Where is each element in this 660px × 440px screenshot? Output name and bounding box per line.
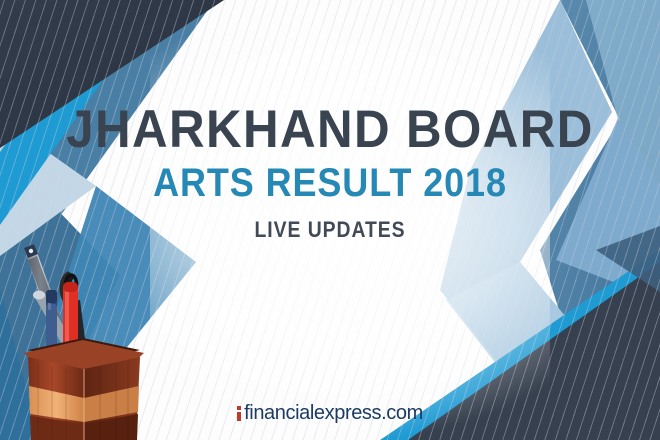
headline-block: JHARKHAND BOARD ARTS RESULT 2018 LIVE UP…	[0, 104, 660, 243]
blue-pen-icon	[46, 290, 57, 352]
page-tagline: LIVE UPDATES	[40, 217, 621, 243]
fe-colon-mark-icon	[237, 406, 241, 421]
brand-logo-text: financialexpress.com	[244, 402, 423, 424]
page-subtitle: ARTS RESULT 2018	[33, 163, 627, 203]
promo-banner: JHARKHAND BOARD ARTS RESULT 2018 LIVE UP…	[0, 0, 660, 440]
brand-logo-inner: financialexpress.com	[237, 402, 423, 425]
brand-logo: financialexpress.com	[0, 402, 660, 425]
page-title: JHARKHAND BOARD	[23, 104, 637, 156]
